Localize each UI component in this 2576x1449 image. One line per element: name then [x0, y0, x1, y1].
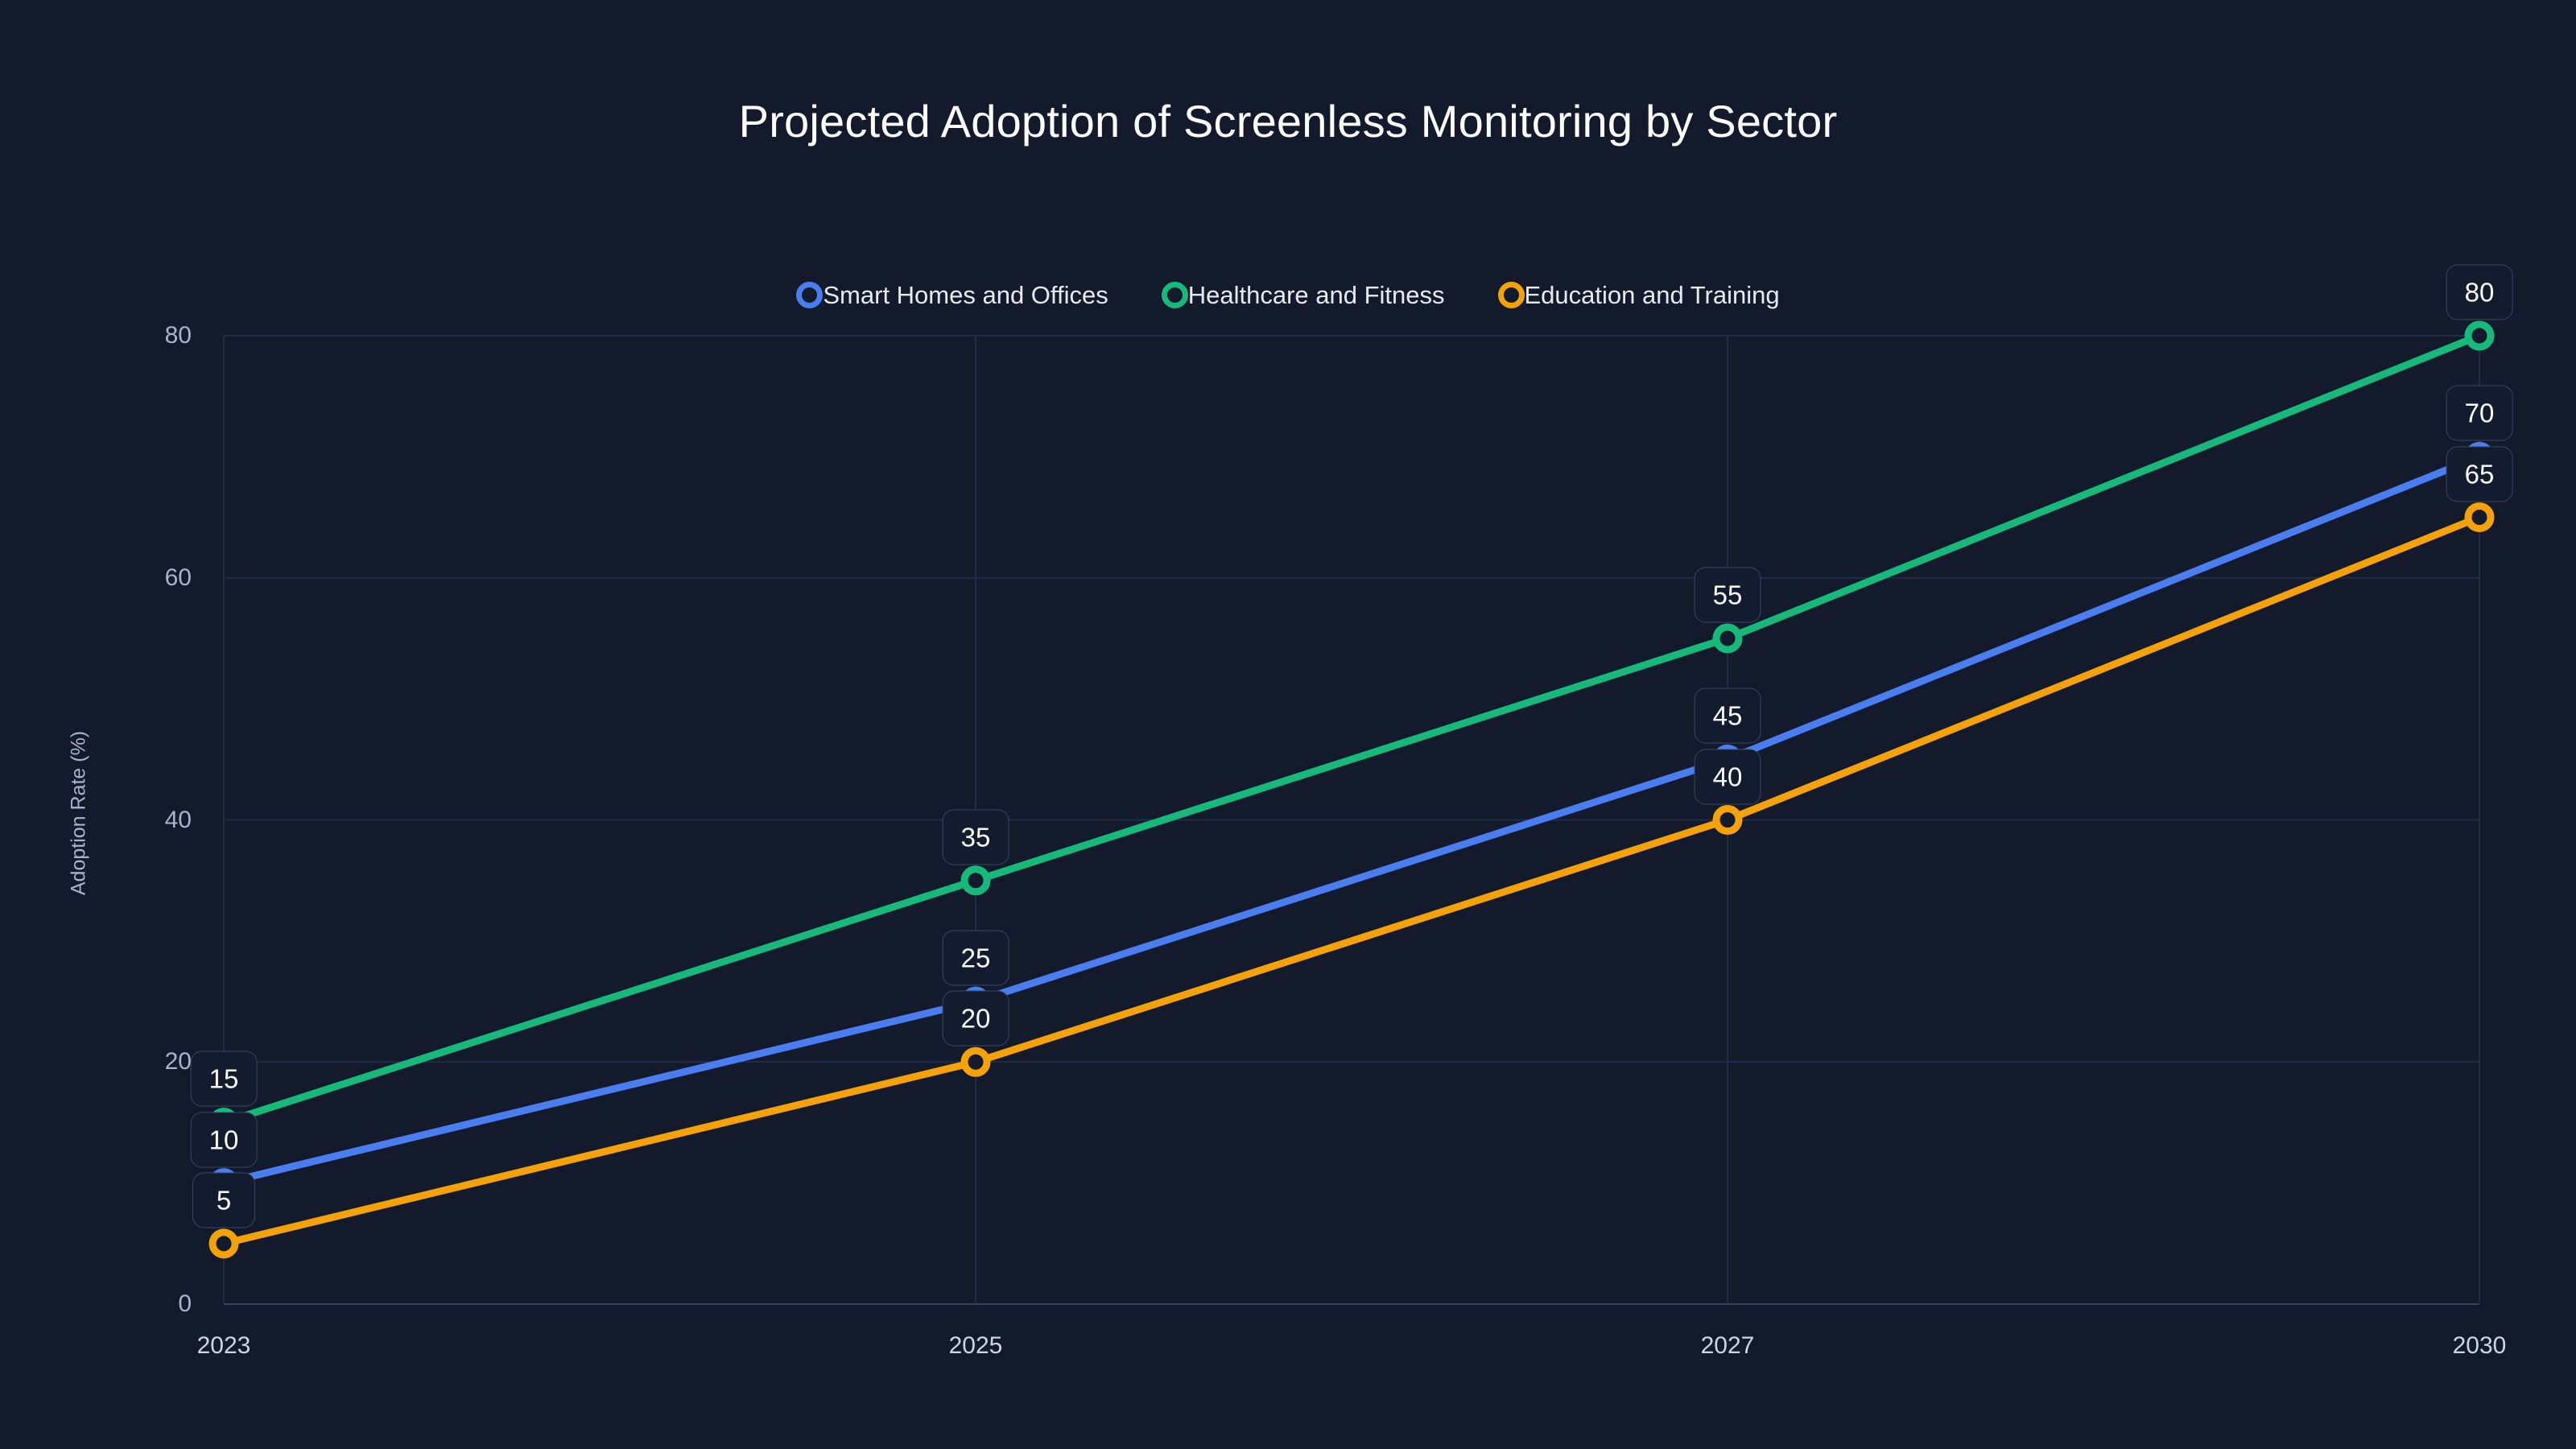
x-axis-tick-label: 2030: [2453, 1332, 2507, 1360]
chart-legend: Smart Homes and Offices Healthcare and F…: [0, 282, 2576, 308]
data-point-label: 70: [2446, 386, 2513, 441]
data-point-marker[interactable]: [213, 1232, 235, 1255]
data-point-label: 25: [943, 931, 1009, 986]
data-point-marker[interactable]: [2468, 506, 2491, 529]
chart-title: Projected Adoption of Screenless Monitor…: [0, 95, 2576, 147]
legend-label: Healthcare and Fitness: [1188, 283, 1445, 308]
legend-item-education-and-training[interactable]: Education and Training: [1498, 282, 1780, 308]
data-point-label: 5: [192, 1172, 255, 1228]
ring-marker-icon: [1498, 282, 1525, 308]
series-line[interactable]: [224, 336, 2479, 1122]
x-axis-tick-label: 2025: [949, 1332, 1003, 1360]
data-point-label: 35: [943, 809, 1009, 865]
legend-label: Education and Training: [1525, 283, 1780, 308]
data-point-marker[interactable]: [2468, 324, 2491, 347]
data-point-label: 15: [191, 1051, 258, 1107]
y-axis-title: Adoption Rate (%): [68, 731, 91, 895]
data-point-label: 55: [1695, 567, 1761, 622]
legend-label: Smart Homes and Offices: [823, 283, 1108, 308]
y-axis-tick-label: 0: [31, 1290, 192, 1318]
x-axis-tick-label: 2023: [197, 1332, 251, 1360]
data-point-label: 65: [2446, 446, 2513, 502]
legend-item-smart-homes-and-offices[interactable]: Smart Homes and Offices: [796, 282, 1108, 308]
plot-svg: [224, 336, 2479, 1304]
legend-item-healthcare-and-fitness[interactable]: Healthcare and Fitness: [1162, 282, 1445, 308]
data-point-label: 40: [1695, 749, 1761, 804]
data-point-marker[interactable]: [964, 1051, 987, 1073]
y-axis-tick-label: 60: [31, 564, 192, 592]
data-point-marker[interactable]: [1716, 809, 1739, 832]
plot-area: [224, 336, 2479, 1304]
data-point-label: 45: [1695, 688, 1761, 744]
data-point-marker[interactable]: [1716, 627, 1739, 650]
y-axis-tick-label: 80: [31, 322, 192, 349]
x-axis-tick-label: 2027: [1701, 1332, 1755, 1360]
data-point-label: 20: [943, 991, 1009, 1046]
data-point-label: 10: [191, 1112, 258, 1167]
y-axis-tick-label: 20: [31, 1048, 192, 1075]
chart-container: Projected Adoption of Screenless Monitor…: [0, 0, 2576, 1449]
ring-marker-icon: [796, 282, 823, 308]
data-point-marker[interactable]: [964, 869, 987, 892]
data-point-label: 80: [2446, 265, 2513, 320]
ring-marker-icon: [1162, 282, 1188, 308]
y-axis-tick-label: 40: [31, 807, 192, 834]
